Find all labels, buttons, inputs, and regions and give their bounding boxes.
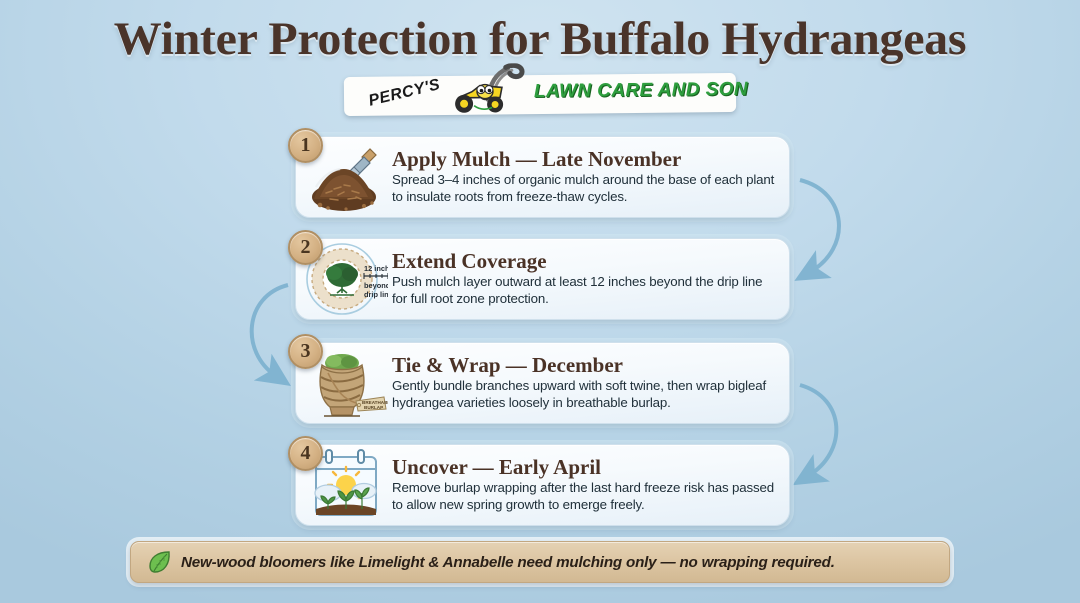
step-text: Tie & Wrap — December Gently bundle bran… (388, 354, 775, 412)
step-description: Remove burlap wrapping after the last ha… (392, 480, 775, 514)
step-heading: Uncover — Early April (392, 456, 775, 480)
step-number-badge: 4 (288, 436, 323, 471)
steps-list: 1 (0, 128, 1080, 536)
step-text: Uncover — Early April Remove burlap wrap… (388, 456, 775, 514)
header: Winter Protection for Buffalo Hydrangeas… (0, 0, 1080, 114)
step-number-badge: 2 (288, 230, 323, 265)
step-description: Push mulch layer outward at least 12 inc… (392, 274, 775, 308)
step-item[interactable]: 2 12 inches (0, 230, 1080, 330)
step-item[interactable]: 1 (0, 128, 1080, 228)
step-heading: Apply Mulch — Late November (392, 148, 775, 172)
step-number-badge: 3 (288, 334, 323, 369)
svg-text:12 inches: 12 inches (364, 264, 388, 273)
svg-text:beyond: beyond (364, 281, 388, 290)
step-text: Apply Mulch — Late November Spread 3–4 i… (388, 148, 775, 206)
step-card[interactable]: Apply Mulch — Late November Spread 3–4 i… (295, 136, 790, 218)
step-description: Spread 3–4 inches of organic mulch aroun… (392, 172, 775, 206)
lawn-mower-icon (440, 63, 533, 116)
step-card[interactable]: 12 inches beyond drip line Extend Covera… (295, 238, 790, 320)
company-logo: PERCY'S LAWN CARE AND SON (344, 73, 736, 116)
page-title: Winter Protection for Buffalo Hydrangeas (0, 12, 1080, 66)
step-number-badge: 1 (288, 128, 323, 163)
svg-text:drip line: drip line (364, 290, 388, 299)
step-card[interactable]: BREATHABLE BURLAP Tie & Wrap — December … (295, 342, 790, 424)
footer-note-text: New-wood bloomers like Limelight & Annab… (181, 554, 835, 571)
footer-note-banner: New-wood bloomers like Limelight & Annab… (130, 541, 950, 583)
step-description: Gently bundle branches upward with soft … (392, 378, 775, 412)
step-item[interactable]: 3 (0, 332, 1080, 432)
step-heading: Extend Coverage (392, 250, 775, 274)
svg-text:BURLAP: BURLAP (364, 405, 383, 410)
step-text: Extend Coverage Push mulch layer outward… (388, 250, 775, 308)
logo-tagline-text: LAWN CARE AND SON (534, 79, 748, 103)
step-item[interactable]: 4 (0, 434, 1080, 534)
logo-brand-text: PERCY'S (367, 76, 442, 111)
step-card[interactable]: Uncover — Early April Remove burlap wrap… (295, 444, 790, 526)
leaf-icon (147, 549, 173, 575)
step-heading: Tie & Wrap — December (392, 354, 775, 378)
